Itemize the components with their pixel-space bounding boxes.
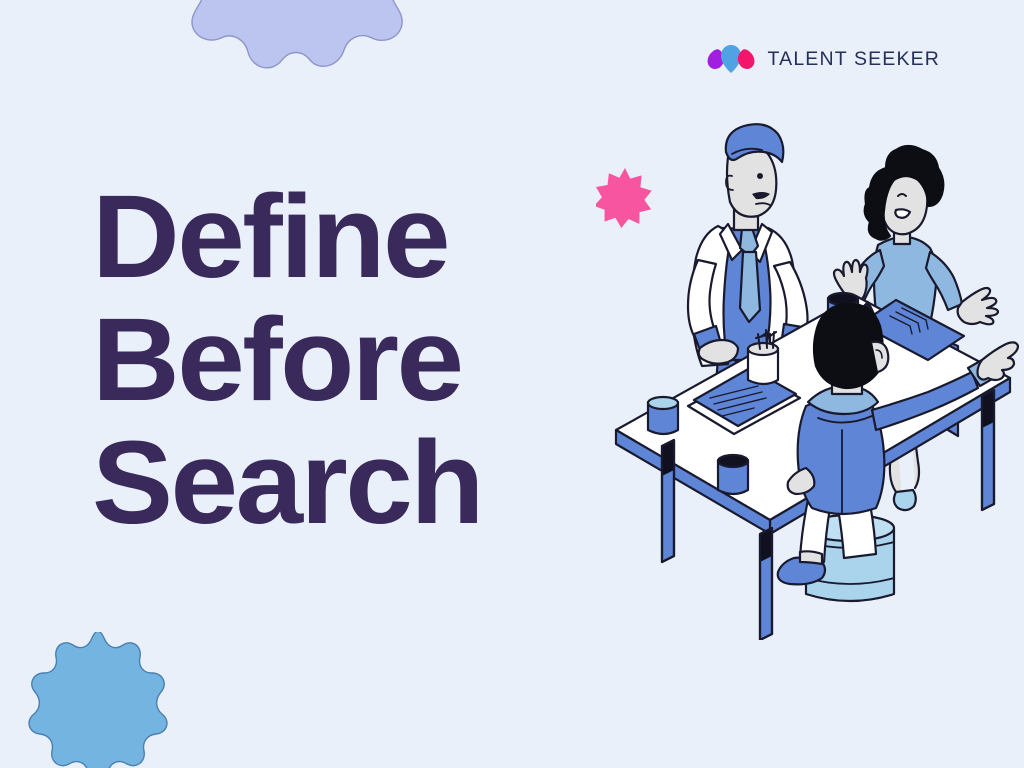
lavender-blob-shape — [178, 0, 418, 109]
three-petal-logo-icon — [707, 44, 755, 74]
headline-line-1: Define — [92, 176, 628, 299]
coffee-cup-object — [718, 455, 748, 494]
brand-name-label: TALENT SEEKER — [768, 48, 940, 71]
team-meeting-illustration — [610, 110, 1024, 640]
brand-logo[interactable]: TALENT SEEKER — [707, 44, 940, 74]
page-title: Define Before Search — [92, 176, 612, 545]
blue-starburst-shape — [24, 632, 184, 768]
headline-line-2: Before — [92, 299, 628, 422]
poster-canvas: TALENT SEEKER Define Before Search — [0, 0, 1024, 768]
headline-line-3: Search — [92, 422, 628, 545]
coffee-cup-object — [648, 397, 678, 434]
